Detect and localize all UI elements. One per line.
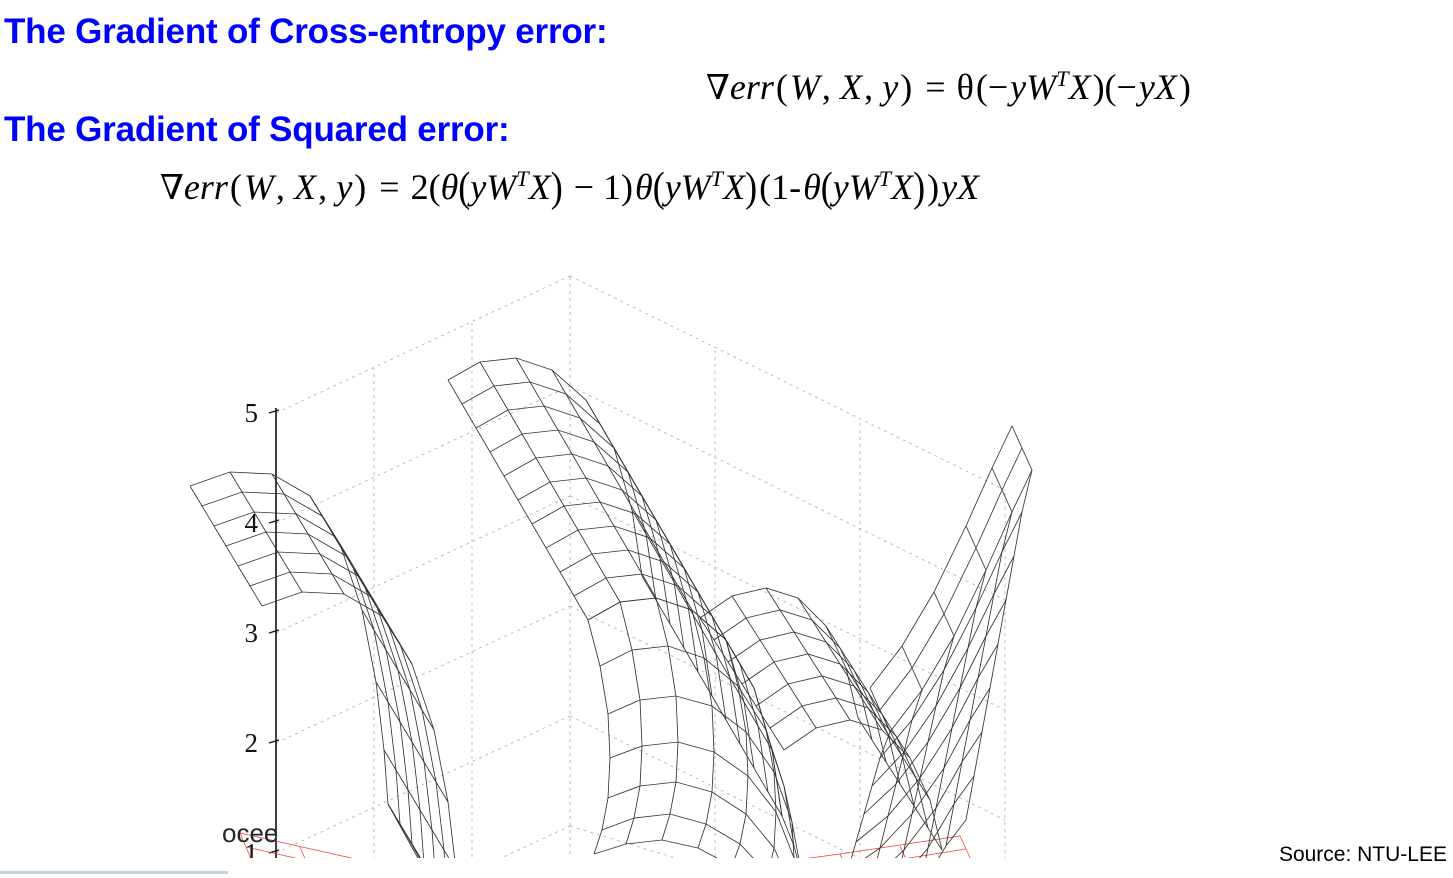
heading-cross-entropy: The Gradient of Cross-entropy error: bbox=[4, 14, 607, 49]
source-note: Source: NTU-LEE bbox=[1279, 843, 1447, 867]
surface-plot-figure: 0 1 2 3 4 5 4 2 0 -2 -4 -4 -2 0 2 4 W1 W… bbox=[180, 258, 1080, 858]
error-surface-svg: 0 1 2 3 4 5 4 2 0 -2 -4 -4 -2 0 2 4 W1 W… bbox=[180, 258, 1080, 858]
equation-squared-error-gradient: ∇err(W, X, y) = 2(θ(yWTX) − 1)θ(yWTX)(1-… bbox=[160, 168, 979, 205]
z-axis-tick-labels: 0 1 2 3 4 5 bbox=[245, 398, 259, 858]
z-tick-2: 2 bbox=[245, 728, 259, 758]
ocee-partial-label: ocee bbox=[222, 818, 278, 849]
equation-cross-entropy-gradient: ∇err(W, X, y) = θ(−yWTX)(−yX) bbox=[706, 68, 1193, 105]
nabla-symbol: ∇ bbox=[706, 68, 730, 108]
heading-squared-error: The Gradient of Squared error: bbox=[4, 112, 509, 147]
bottom-accent-bar bbox=[0, 871, 228, 874]
z-tick-4: 4 bbox=[245, 508, 259, 538]
cross-entropy-mesh bbox=[190, 358, 1032, 858]
squared-error-mesh bbox=[240, 833, 1044, 858]
z-tick-5: 5 bbox=[245, 398, 259, 428]
nabla-symbol: ∇ bbox=[160, 168, 184, 208]
z-tick-3: 3 bbox=[245, 618, 259, 648]
